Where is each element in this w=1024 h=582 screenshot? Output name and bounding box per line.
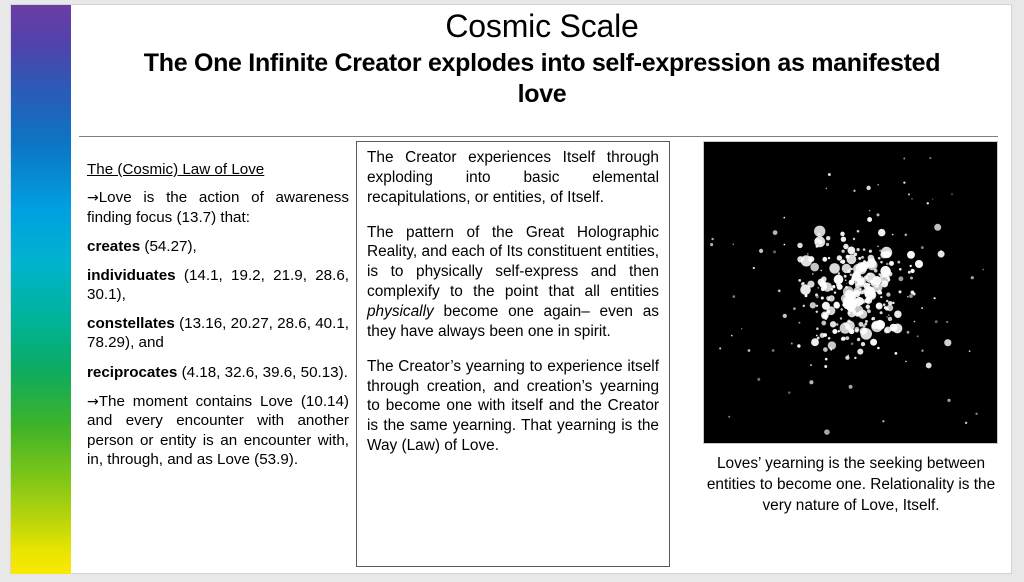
moment-contains-love-text: The moment contains Love (10.14) and eve… [87,393,349,468]
page-subtitle: The One Infinite Creator explodes into s… [79,42,1005,109]
law-item-creates-refs: (54.27), [140,238,197,255]
law-definition-text: Love is the action of awareness finding … [87,189,349,226]
arrow-glyph-icon: → [87,190,99,206]
law-item-creates: creates (54.27), [87,237,349,256]
middle-paragraph-1: The Creator experiences Itself through e… [367,148,659,208]
law-item-constellates: constellates (13.16, 20.27, 28.6, 40.1, … [87,314,349,352]
slide-canvas: Cosmic Scale The One Infinite Creator ex… [10,4,1012,574]
law-item-individuates-label: individuates [87,267,176,284]
law-item-constellates-label: constellates [87,315,175,332]
moment-contains-love-paragraph: →The moment contains Love (10.14) and ev… [87,392,349,469]
star-cluster-image [703,141,998,444]
left-gradient-accent-bar [11,5,71,574]
middle-text-box: The Creator experiences Itself through e… [356,141,670,567]
law-item-reciprocates: reciprocates (4.18, 32.6, 39.6, 50.13). [87,363,349,382]
star-cluster-svg [704,142,997,443]
middle-paragraph-2-part-1: The pattern of the Great Holographic Rea… [367,224,659,301]
law-item-individuates: individuates (14.1, 19.2, 21.9, 28.6, 30… [87,266,349,304]
law-of-love-heading: The (Cosmic) Law of Love [87,160,349,179]
middle-paragraph-2-emphasis: physically [367,303,434,320]
middle-paragraph-2: The pattern of the Great Holographic Rea… [367,223,659,342]
middle-paragraph-3: The Creator’s yearning to experience its… [367,357,659,456]
image-caption: Loves’ yearning is the seeking between e… [695,454,1007,517]
law-item-creates-label: creates [87,238,140,255]
page-title: Cosmic Scale [79,5,1005,42]
law-definition-paragraph: →Love is the action of awareness finding… [87,188,349,227]
arrow-glyph-icon-2: → [87,394,99,410]
law-item-reciprocates-label: reciprocates [87,364,177,381]
left-text-column: The (Cosmic) Law of Love →Love is the ac… [87,160,349,469]
law-item-reciprocates-refs: (4.18, 32.6, 39.6, 50.13). [177,364,348,381]
title-area: Cosmic Scale The One Infinite Creator ex… [79,5,1005,133]
title-divider [79,136,998,137]
